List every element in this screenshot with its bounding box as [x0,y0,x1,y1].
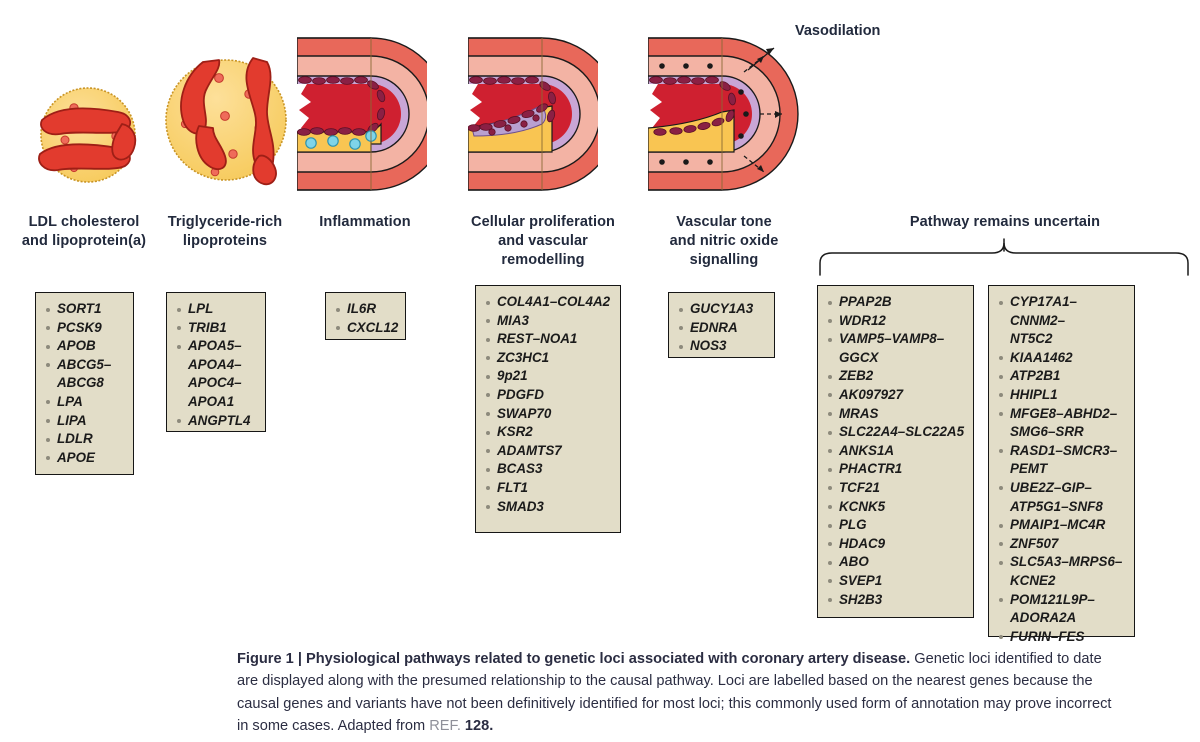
gene-list-uncertain-right: CYP17A1–CNNM2– NT5C2KIAA1462ATP2B1HHIPL1… [997,293,1128,646]
caption-title: Physiological pathways related to geneti… [306,651,910,667]
gene-item: KSR2 [484,423,614,442]
gene-item: PMAIP1–MC4R [997,516,1128,535]
gene-item: MIA3 [484,312,614,331]
caption-figure-label: Figure 1 [237,651,294,667]
gene-item: CYP17A1–CNNM2– NT5C2 [997,293,1128,349]
gene-item: LDLR [44,430,127,449]
vasodilation-label: Vasodilation [795,23,880,39]
gene-item: AK097927 [826,386,967,405]
gene-item: ZEB2 [826,367,967,386]
gene-box-ldl: SORT1PCSK9APOBABCG5– ABCG8LPALIPALDLRAPO… [35,292,134,475]
gene-list-uncertain-left: PPAP2BWDR12VAMP5–VAMP8– GGCXZEB2AK097927… [826,293,967,609]
uncertain-pathway-brace [818,237,1190,277]
figure-canvas: Vasodilation LDL cholesterol and lipopro… [0,0,1200,742]
gene-item: APOE [44,449,127,468]
gene-item: HHIPL1 [997,386,1128,405]
gene-item: ANGPTL4 [175,412,259,431]
column-header-ldl: LDL cholesterol and lipoprotein(a) [10,213,158,251]
lipoprotein-particle-large-illustration [163,42,288,190]
gene-item: HDAC9 [826,535,967,554]
gene-item: ATP2B1 [997,367,1128,386]
gene-item: SWAP70 [484,405,614,424]
figure-caption: Figure 1 | Physiological pathways relate… [237,648,1119,738]
gene-item: POM121L9P– ADORA2A [997,591,1128,628]
gene-item: SLC5A3–MRPS6– KCNE2 [997,553,1128,590]
column-header-vascular-tone: Vascular tone and nitric oxide signallin… [648,213,800,270]
gene-box-uncertain-left: PPAP2BWDR12VAMP5–VAMP8– GGCXZEB2AK097927… [817,285,974,618]
gene-box-vascular-tone: GUCY1A3EDNRANOS3 [668,292,775,358]
gene-item: SORT1 [44,300,127,319]
gene-item: WDR12 [826,312,967,331]
caption-separator: | [298,651,302,667]
column-header-inflammation: Inflammation [300,213,430,232]
gene-item: PCSK9 [44,319,127,338]
gene-item: PDGFD [484,386,614,405]
gene-item: FLT1 [484,479,614,498]
gene-item: RASD1–SMCR3– PEMT [997,442,1128,479]
gene-item: VAMP5–VAMP8– GGCX [826,330,967,367]
gene-item: PHACTR1 [826,460,967,479]
gene-item: ABCG5– ABCG8 [44,356,127,393]
gene-item: KCNK5 [826,498,967,517]
gene-item: APOB [44,337,127,356]
gene-box-triglyceride: LPLTRIB1APOA5– APOA4– APOC4– APOA1ANGPTL… [166,292,266,432]
gene-item: ABO [826,553,967,572]
gene-item: PLG [826,516,967,535]
gene-box-proliferation: COL4A1–COL4A2MIA3REST–NOA1ZC3HC19p21PDGF… [475,285,621,533]
gene-item: SMAD3 [484,498,614,517]
artery-cross-section-vasodilation-illustration [648,36,808,192]
gene-item: KIAA1462 [997,349,1128,368]
gene-item: LPL [175,300,259,319]
gene-item: COL4A1–COL4A2 [484,293,614,312]
gene-item: MRAS [826,405,967,424]
gene-item: TRIB1 [175,319,259,338]
gene-item: SLC22A4–SLC22A5 [826,423,967,442]
artery-cross-section-remodelling-illustration [468,36,598,192]
gene-item: UBE2Z–GIP– ATP5G1–SNF8 [997,479,1128,516]
column-header-proliferation: Cellular proliferation and vascular remo… [450,213,636,270]
gene-item: SVEP1 [826,572,967,591]
gene-item: GUCY1A3 [677,300,768,319]
gene-list-inflammation: IL6RCXCL12 [334,300,399,337]
gene-item: CXCL12 [334,319,399,338]
gene-item: PPAP2B [826,293,967,312]
gene-item: ZNF507 [997,535,1128,554]
gene-item: REST–NOA1 [484,330,614,349]
lipoprotein-particle-small-illustration [30,78,145,188]
gene-list-vascular-tone: GUCY1A3EDNRANOS3 [677,300,768,356]
gene-item: LPA [44,393,127,412]
gene-item: FURIN–FES [997,628,1128,647]
gene-item: LIPA [44,412,127,431]
gene-item: TCF21 [826,479,967,498]
artery-cross-section-inflammation-illustration [297,36,427,192]
gene-item: ANKS1A [826,442,967,461]
gene-item: EDNRA [677,319,768,338]
gene-item: MFGE8–ABHD2– SMG6–SRR [997,405,1128,442]
gene-list-proliferation: COL4A1–COL4A2MIA3REST–NOA1ZC3HC19p21PDGF… [484,293,614,516]
gene-item: ZC3HC1 [484,349,614,368]
gene-item: IL6R [334,300,399,319]
gene-box-uncertain-right: CYP17A1–CNNM2– NT5C2KIAA1462ATP2B1HHIPL1… [988,285,1135,637]
gene-item: SH2B3 [826,591,967,610]
gene-item: APOA5– APOA4– APOC4– APOA1 [175,337,259,411]
gene-list-ldl: SORT1PCSK9APOBABCG5– ABCG8LPALIPALDLRAPO… [44,300,127,467]
gene-item: ADAMTS7 [484,442,614,461]
column-header-triglyceride: Triglyceride-rich lipoproteins [155,213,295,251]
caption-reference-number: 128. [461,718,493,734]
gene-item: BCAS3 [484,460,614,479]
gene-item: NOS3 [677,337,768,356]
gene-list-triglyceride: LPLTRIB1APOA5– APOA4– APOC4– APOA1ANGPTL… [175,300,259,430]
gene-box-inflammation: IL6RCXCL12 [325,292,406,340]
column-header-uncertain: Pathway remains uncertain [820,213,1190,232]
gene-item: 9p21 [484,367,614,386]
caption-reference: REF. [429,718,461,734]
